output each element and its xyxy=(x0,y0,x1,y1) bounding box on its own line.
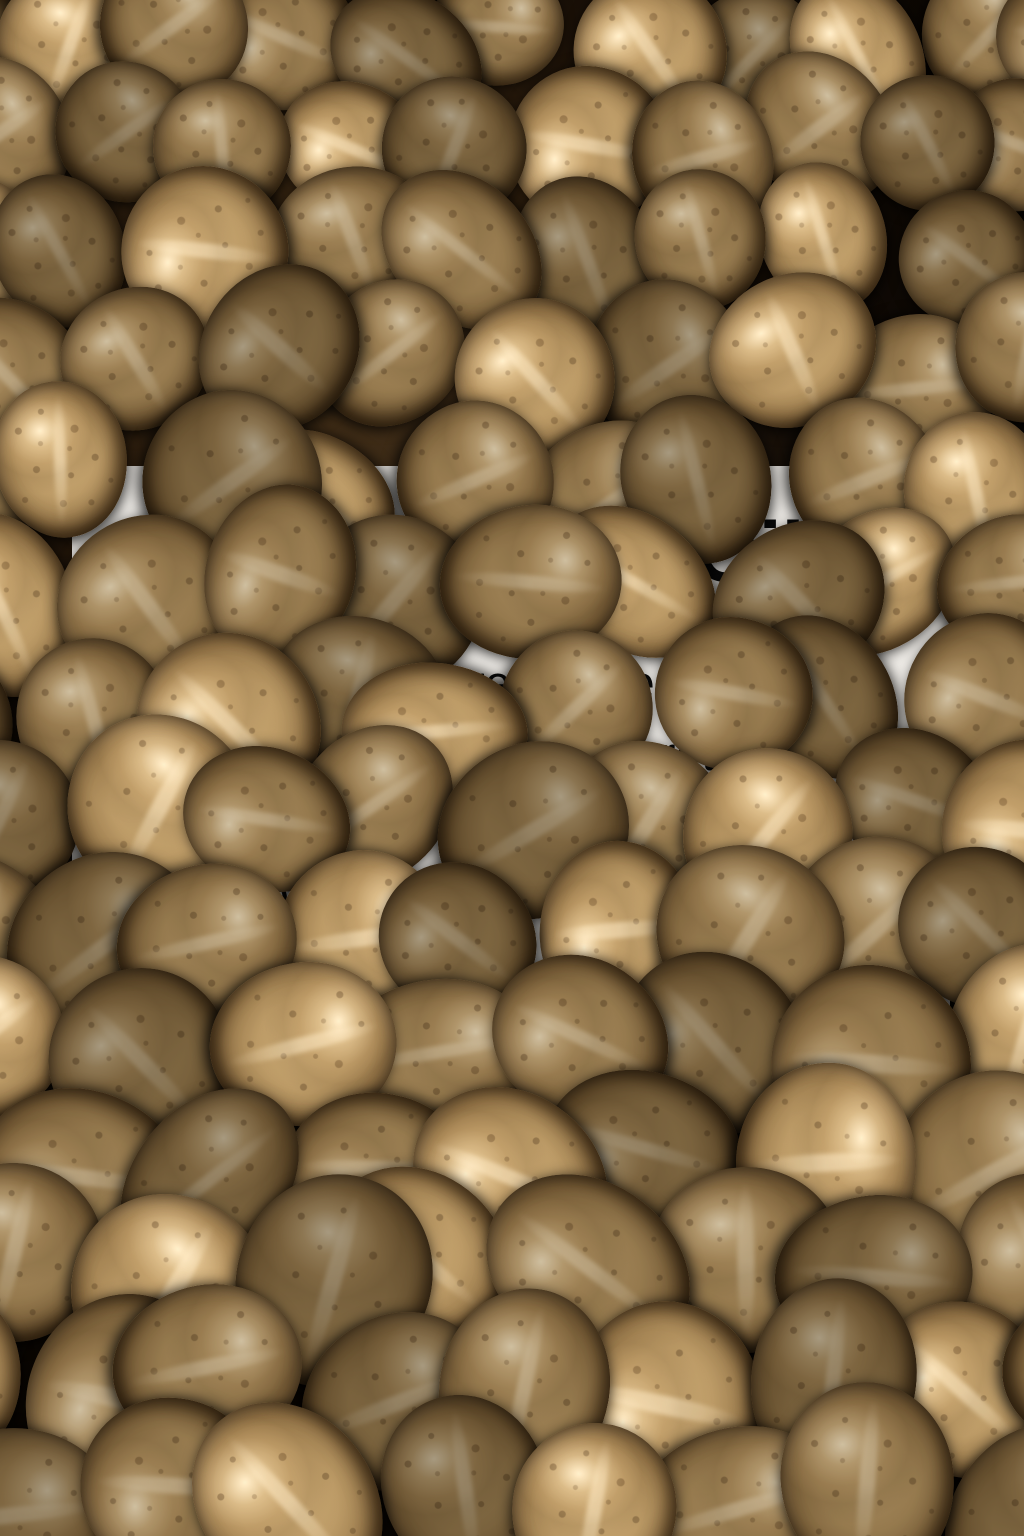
hemp-seed-background xyxy=(0,0,1024,1536)
poster-canvas: Hemp Seed Oil Nourishes and revitalizes … xyxy=(0,0,1024,1536)
